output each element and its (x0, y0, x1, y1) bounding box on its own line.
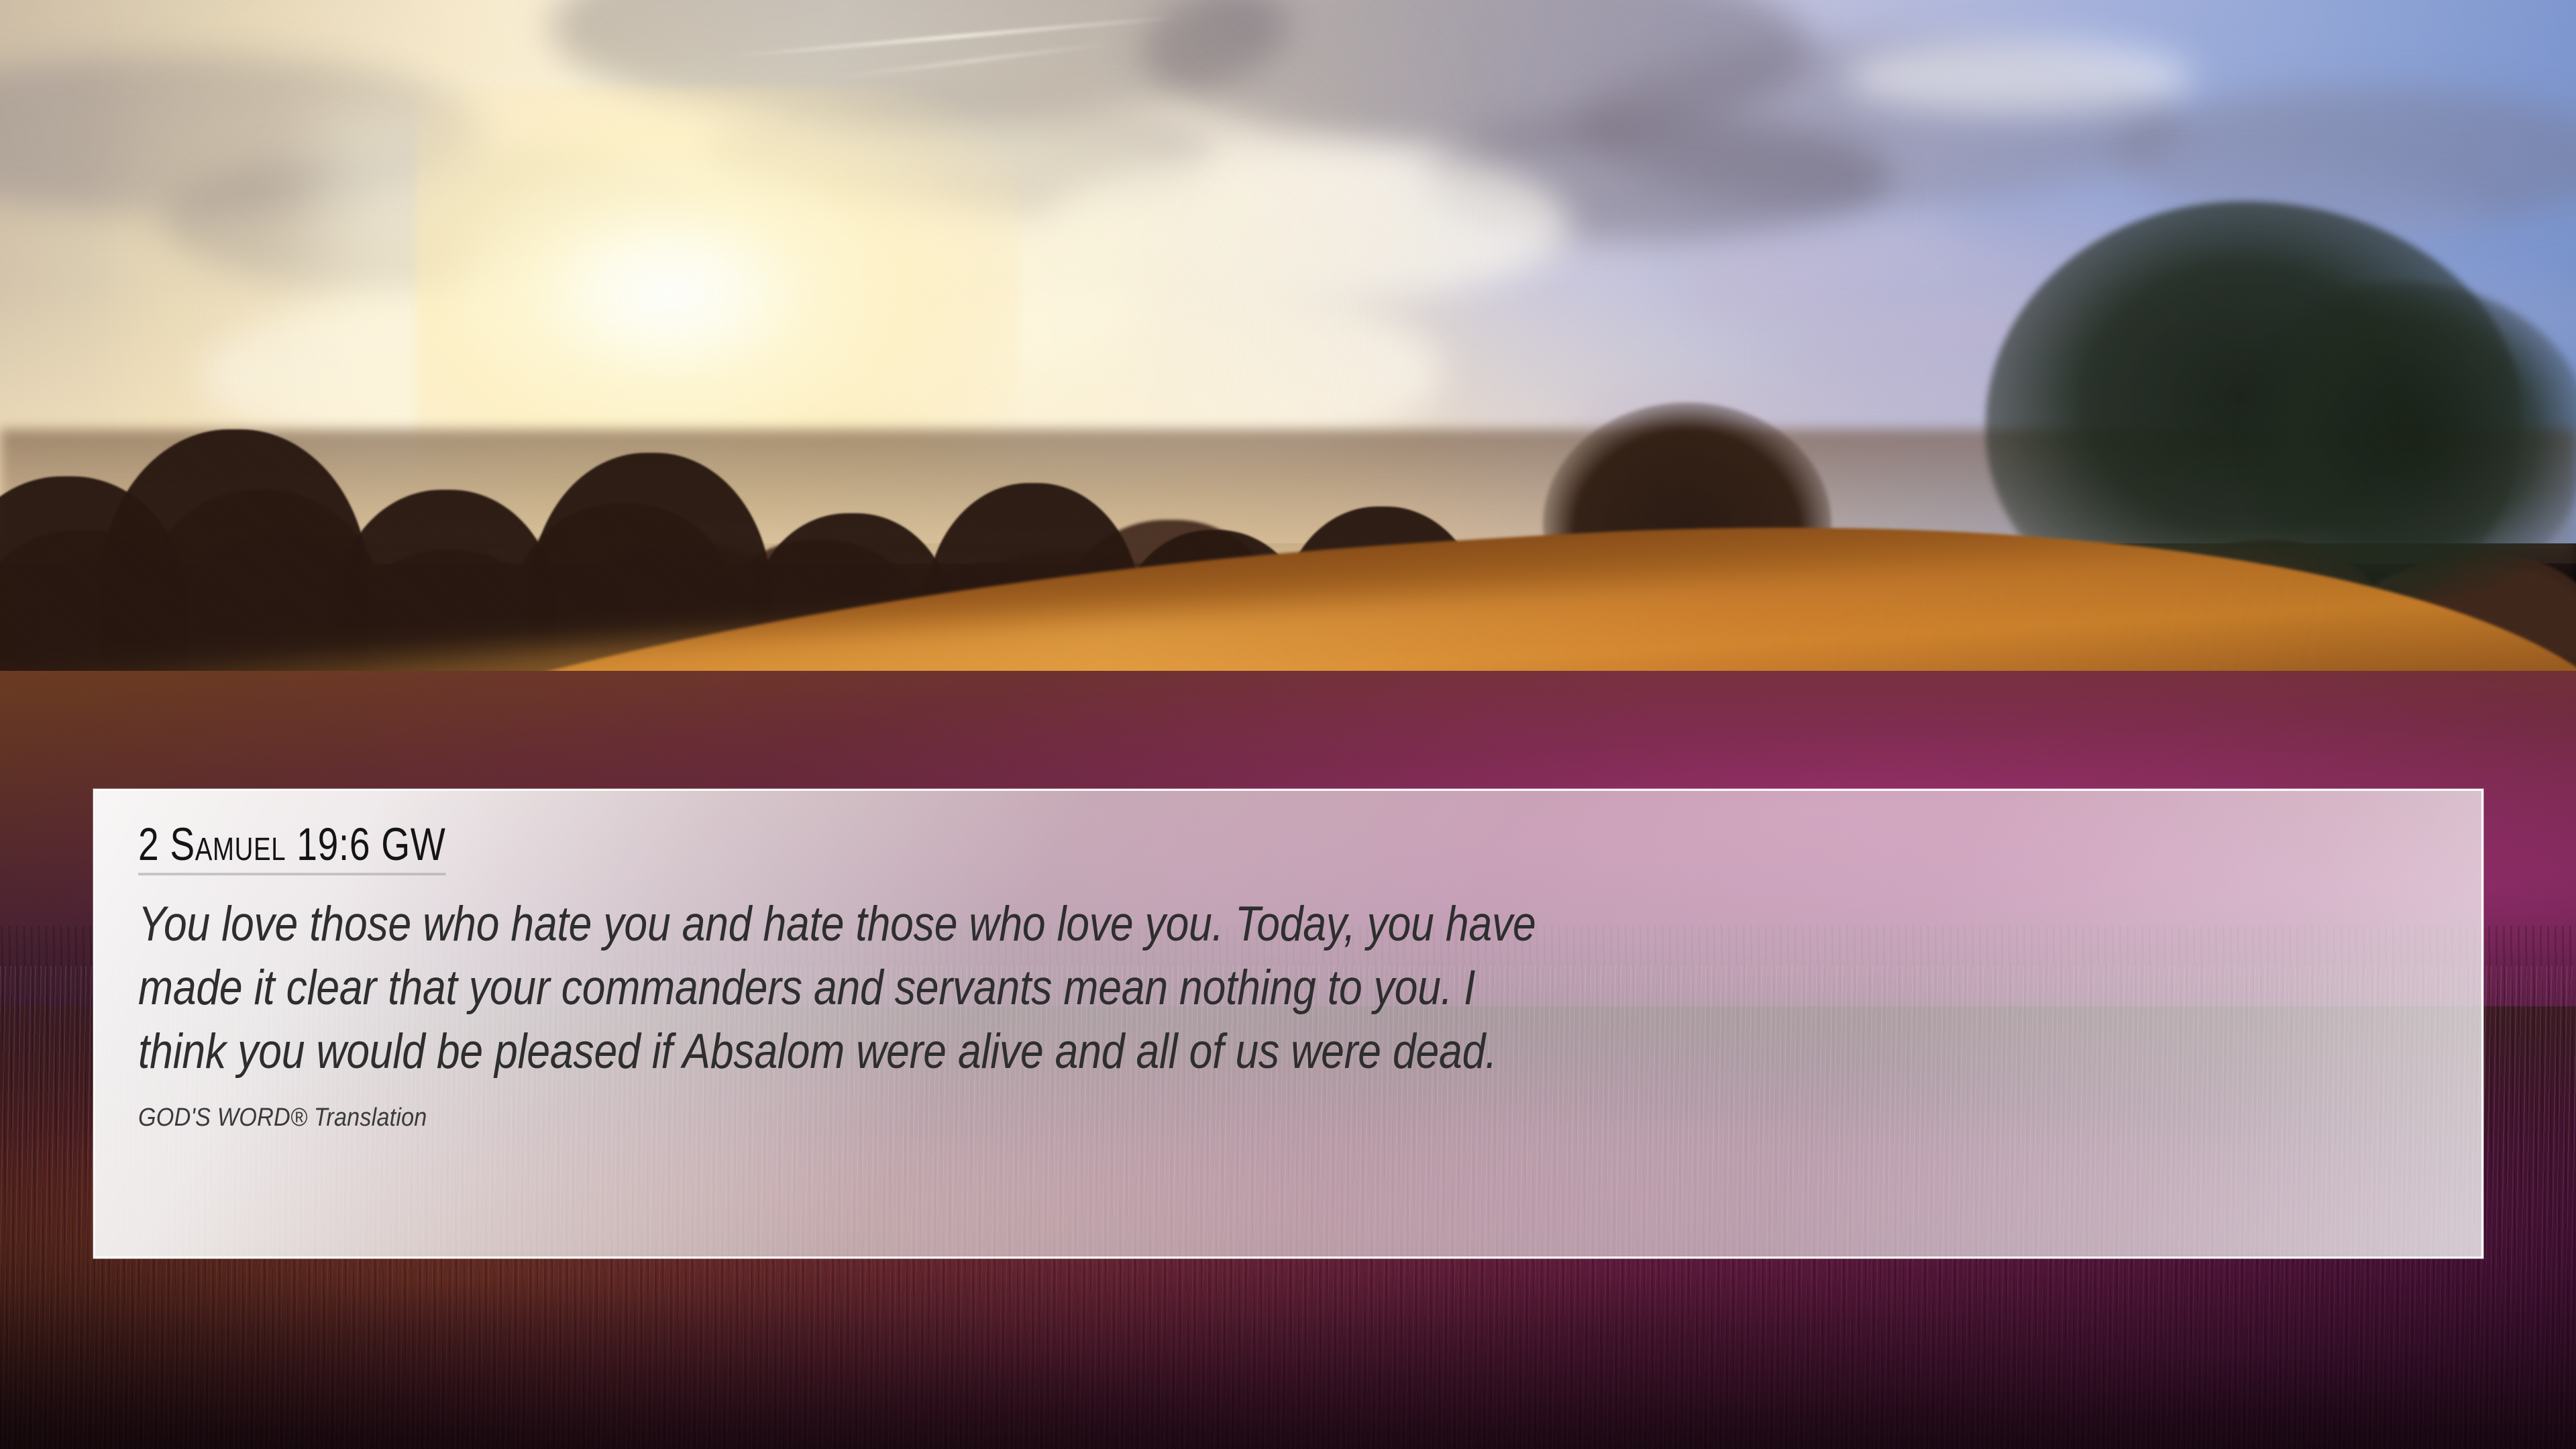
verse-card: 2 Samuel 19:6 GW You love those who hate… (93, 789, 2483, 1258)
wallpaper-stage: 2 Samuel 19:6 GW You love those who hate… (0, 0, 2576, 1449)
cloud-shape (1845, 40, 2194, 114)
translation-credit: GOD'S WORD® Translation (138, 1104, 2213, 1132)
verse-reference: 2 Samuel 19:6 GW (138, 820, 446, 875)
verse-text: You love those who hate you and hate tho… (138, 893, 2445, 1084)
